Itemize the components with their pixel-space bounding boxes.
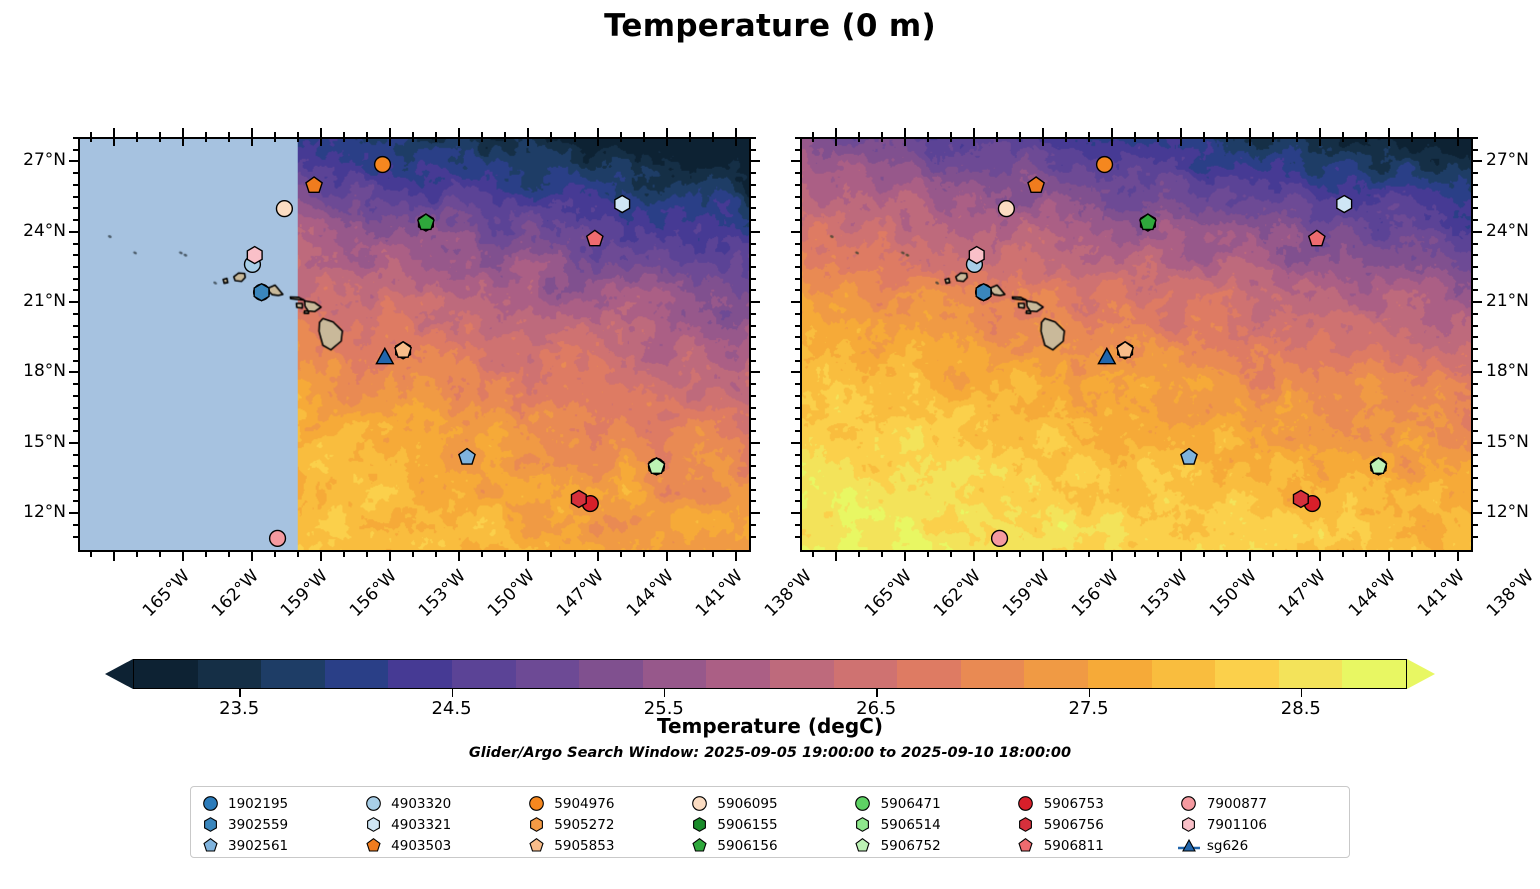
- y-axis-tick: [1473, 219, 1478, 221]
- pentagon-marker-icon: [199, 837, 221, 855]
- colorbar-tick: [452, 689, 454, 697]
- y-axis-tick: [1473, 371, 1482, 373]
- legend-entry-sg626[interactable]: sg626: [1178, 837, 1341, 855]
- colorbar-min-extend-arrow: [105, 659, 133, 689]
- hexagon-marker-icon: [199, 816, 221, 834]
- colorbar-tick: [876, 689, 878, 697]
- y-axis-tick: [1473, 196, 1478, 198]
- y-axis-tick: [1473, 500, 1478, 502]
- y-axis-tick: [751, 313, 756, 315]
- legend-entry-5906756[interactable]: 5906756: [1015, 816, 1178, 834]
- x-axis-tick-label: 162°W: [930, 566, 985, 621]
- figure-title: Temperature (0 m): [0, 8, 1540, 44]
- y-axis-tick: [751, 407, 756, 409]
- y-axis-tick: [1473, 430, 1478, 432]
- x-axis-tick: [389, 128, 391, 137]
- y-axis-tick: [1473, 360, 1478, 362]
- legend-label: 1902195: [228, 796, 288, 812]
- y-axis-tick: [1473, 512, 1482, 514]
- y-axis-tick: [751, 137, 756, 139]
- x-axis-tick-label: 147°W: [553, 566, 608, 621]
- y-axis-tick-label: 24°N: [0, 221, 66, 241]
- hexagon-marker-icon: [525, 816, 547, 834]
- y-axis-tick: [1473, 536, 1478, 538]
- x-axis-tick: [320, 128, 322, 137]
- legend-label: 4903503: [391, 838, 451, 854]
- y-axis-tick: [751, 418, 756, 420]
- platform-marker-4903503[interactable]: 4903503: [306, 177, 322, 192]
- y-axis-tick: [791, 512, 800, 514]
- marker-overlay-espc: 1902195390255939025614903320490332149035…: [802, 139, 1471, 550]
- search-window-caption: Glider/Argo Search Window: 2025-09-05 19…: [0, 745, 1540, 761]
- x-axis-tick: [113, 128, 115, 137]
- circle-marker-icon: [1178, 795, 1200, 813]
- legend-entry-5906811[interactable]: 5906811: [1015, 837, 1178, 855]
- x-axis-tick: [1157, 552, 1159, 557]
- y-axis-tick: [751, 289, 756, 291]
- y-axis-tick: [1473, 395, 1478, 397]
- y-axis-tick: [751, 278, 756, 280]
- y-axis-tick: [751, 172, 756, 174]
- platform-marker-5904976[interactable]: 5904976: [375, 157, 391, 173]
- x-axis-tick-label: 165°W: [138, 566, 193, 621]
- y-axis-tick: [751, 149, 756, 151]
- legend-label: 5906471: [881, 796, 941, 812]
- legend-entry-7901106[interactable]: 7901106: [1178, 816, 1341, 834]
- platform-marker-7900877[interactable]: 7900877: [270, 530, 286, 546]
- platform-marker-4903321[interactable]: 4903321: [1337, 196, 1352, 213]
- y-axis-tick: [69, 231, 78, 233]
- x-axis-tick: [458, 128, 460, 137]
- x-axis-tick: [228, 552, 230, 557]
- x-axis-tick: [1088, 552, 1090, 557]
- x-axis-tick: [858, 552, 860, 557]
- map-panel-rtofs[interactable]: RTOFS - 2025-09-10 18:00:00 190219539025…: [78, 137, 751, 552]
- legend-entry-5906514[interactable]: 5906514: [852, 816, 1015, 834]
- x-axis-tick: [527, 552, 529, 561]
- platform-marker-3902561[interactable]: 3902561: [1181, 449, 1197, 464]
- colorbar-tick: [1089, 689, 1091, 697]
- y-axis-tick: [1473, 524, 1478, 526]
- legend-entry-1902195[interactable]: 1902195: [199, 795, 362, 813]
- x-axis-tick: [297, 552, 299, 557]
- y-axis-tick: [751, 336, 756, 338]
- platform-marker-5905853[interactable]: 5905853: [1117, 342, 1133, 357]
- y-axis-tick: [1473, 313, 1478, 315]
- legend-label: 5905853: [554, 838, 614, 854]
- x-axis-tick: [597, 128, 599, 137]
- legend-label: 5905272: [554, 817, 614, 833]
- x-axis-tick: [136, 552, 138, 557]
- x-axis-tick: [1272, 552, 1274, 557]
- x-axis-tick: [881, 552, 883, 557]
- y-axis-tick: [791, 371, 800, 373]
- y-axis-tick: [751, 512, 760, 514]
- x-axis-tick-label: 159°W: [999, 566, 1054, 621]
- circle-marker-icon: [362, 795, 384, 813]
- legend-label: 5906811: [1044, 838, 1104, 854]
- x-axis-tick: [1434, 552, 1436, 557]
- platform-marker-3902559[interactable]: 3902559: [254, 284, 269, 301]
- y-axis-tick: [791, 442, 800, 444]
- y-axis-tick-label: 12°N: [1486, 502, 1529, 522]
- y-axis-tick: [1473, 407, 1478, 409]
- legend-grid: 1902195490332059049765906095590647159067…: [199, 793, 1341, 856]
- x-axis-tick: [620, 552, 622, 557]
- x-axis-tick: [159, 552, 161, 557]
- x-axis-tick: [366, 552, 368, 557]
- y-axis-tick: [751, 500, 756, 502]
- x-axis-tick-label: 138°W: [761, 566, 816, 621]
- platform-marker-5905853[interactable]: 5905853: [395, 342, 411, 357]
- legend-entry-3902561[interactable]: 3902561: [199, 837, 362, 855]
- x-axis-tick: [1319, 552, 1321, 561]
- x-axis-tick-label: 150°W: [1206, 566, 1261, 621]
- platform-marker-3902561[interactable]: 3902561: [459, 449, 475, 464]
- pentagon-marker-icon: [688, 837, 710, 855]
- x-axis-tick-label: 147°W: [1275, 566, 1330, 621]
- x-axis-tick: [574, 552, 576, 557]
- legend-entry-5906752[interactable]: 5906752: [852, 837, 1015, 855]
- y-axis-tick-label: 18°N: [1486, 361, 1529, 381]
- y-axis-tick: [751, 442, 760, 444]
- y-axis-tick: [1473, 207, 1478, 209]
- y-axis-tick: [751, 301, 760, 303]
- y-axis-tick: [751, 395, 756, 397]
- x-axis-tick: [1111, 128, 1113, 137]
- y-axis-tick: [1473, 231, 1482, 233]
- platform-marker-4903321[interactable]: 4903321: [615, 196, 630, 213]
- x-axis-tick-label: 141°W: [692, 566, 747, 621]
- legend-entry-5906753[interactable]: 5906753: [1015, 795, 1178, 813]
- y-axis-tick: [1473, 278, 1478, 280]
- x-axis-tick: [1249, 128, 1251, 137]
- legend-label: 4903321: [391, 817, 451, 833]
- legend-entry-4903320[interactable]: 4903320: [362, 795, 525, 813]
- legend-label: 3902561: [228, 838, 288, 854]
- y-axis-tick: [751, 184, 756, 186]
- y-axis-tick: [751, 536, 756, 538]
- colorbar-tick: [239, 689, 241, 697]
- x-axis-tick: [835, 128, 837, 137]
- y-axis-tick: [1473, 489, 1478, 491]
- x-axis-tick: [435, 552, 437, 557]
- colorbar-tick: [664, 689, 666, 697]
- x-axis-tick: [735, 552, 737, 561]
- x-axis-tick: [1042, 552, 1044, 561]
- x-axis-tick-label: 144°W: [622, 566, 677, 621]
- circle-marker-icon: [525, 795, 547, 813]
- hexagon-marker-icon: [362, 816, 384, 834]
- x-axis-tick: [412, 552, 414, 557]
- y-axis-tick: [751, 266, 756, 268]
- legend-label: 5906753: [1044, 796, 1104, 812]
- y-axis-tick: [751, 196, 756, 198]
- x-axis-tick-label: 150°W: [484, 566, 539, 621]
- colorbar[interactable]: 23.524.525.526.527.528.5: [105, 659, 1435, 689]
- y-axis-tick: [751, 489, 756, 491]
- y-axis-tick: [751, 477, 756, 479]
- legend-entry-5906095[interactable]: 5906095: [688, 795, 851, 813]
- x-axis-tick: [90, 552, 92, 557]
- y-axis-tick: [1473, 442, 1482, 444]
- pentagon-marker-icon: [362, 837, 384, 855]
- legend-label: 5906752: [881, 838, 941, 854]
- x-axis-tick-label: 144°W: [1344, 566, 1399, 621]
- platform-marker-5906756[interactable]: 5906756: [1293, 490, 1308, 507]
- y-axis-tick: [751, 254, 756, 256]
- x-axis-tick: [182, 128, 184, 137]
- y-axis-tick: [1473, 160, 1482, 162]
- x-axis-tick: [389, 552, 391, 561]
- x-axis-tick: [666, 552, 668, 561]
- x-axis-tick-label: 153°W: [415, 566, 470, 621]
- x-axis-tick: [689, 552, 691, 557]
- legend-label: 5906095: [717, 796, 777, 812]
- y-axis-tick: [751, 348, 756, 350]
- x-axis-tick: [1065, 552, 1067, 557]
- x-axis-tick-label: 141°W: [1414, 566, 1469, 621]
- y-axis-tick: [1473, 348, 1478, 350]
- colorbar-gradient: [133, 659, 1407, 689]
- x-axis-tick: [735, 128, 737, 137]
- y-axis-tick-label: 15°N: [1486, 432, 1529, 452]
- platform-marker-7901106[interactable]: 7901106: [969, 247, 984, 264]
- platform-marker-5904976[interactable]: 5904976: [1097, 157, 1113, 173]
- y-axis-tick: [751, 325, 756, 327]
- x-axis-tick: [950, 552, 952, 557]
- x-axis-tick: [251, 552, 253, 561]
- y-axis-tick: [1473, 184, 1478, 186]
- colorbar-max-extend-arrow: [1407, 659, 1435, 689]
- marker-overlay-rtofs: 1902195390255939025614903320490332149035…: [80, 139, 749, 550]
- y-axis-tick: [1473, 336, 1478, 338]
- x-axis-tick: [343, 552, 345, 557]
- circle-marker-icon: [199, 795, 221, 813]
- y-axis-tick: [1473, 301, 1482, 303]
- legend-entry-5905272[interactable]: 5905272: [525, 816, 688, 834]
- y-axis-tick: [1473, 137, 1478, 139]
- pentagon-marker-icon: [1015, 837, 1037, 855]
- x-axis-tick: [182, 552, 184, 561]
- platform-marker-4903503[interactable]: 4903503: [1028, 177, 1044, 192]
- y-axis-tick: [751, 524, 756, 526]
- x-axis-tick: [1457, 128, 1459, 137]
- x-axis-tick: [1180, 128, 1182, 137]
- x-axis-tick: [904, 552, 906, 561]
- platform-marker-5906156[interactable]: 5906156: [1140, 214, 1156, 229]
- x-axis-tick-label: 153°W: [1137, 566, 1192, 621]
- legend-label: 7901106: [1207, 817, 1267, 833]
- y-axis-tick: [751, 243, 756, 245]
- x-axis-tick-label: 165°W: [860, 566, 915, 621]
- platform-marker-5906811[interactable]: 5906811: [1309, 230, 1325, 245]
- y-axis-tick: [1473, 465, 1478, 467]
- legend-label: 5904976: [554, 796, 614, 812]
- platform-marker-5906156[interactable]: 5906156: [418, 214, 434, 229]
- x-axis-tick: [458, 552, 460, 561]
- circle-marker-icon: [1015, 795, 1037, 813]
- triangle-marker-icon: [1178, 837, 1200, 855]
- x-axis-tick: [904, 128, 906, 137]
- y-axis-tick: [69, 160, 78, 162]
- y-axis-tick: [751, 383, 756, 385]
- y-axis-tick: [1473, 266, 1478, 268]
- legend-label: 4903320: [391, 796, 451, 812]
- y-axis-tick: [751, 160, 760, 162]
- y-axis-tick: [69, 442, 78, 444]
- platform-marker-3902559[interactable]: 3902559: [976, 284, 991, 301]
- x-axis-tick: [1019, 552, 1021, 557]
- x-axis-tick: [973, 552, 975, 561]
- x-axis-tick: [1411, 552, 1413, 557]
- platform-legend[interactable]: 1902195490332059049765906095590647159067…: [190, 786, 1350, 858]
- y-axis-tick: [791, 231, 800, 233]
- colorbar-tick: [1301, 689, 1303, 697]
- y-axis-tick-label: 18°N: [0, 361, 66, 381]
- x-axis-tick: [320, 552, 322, 561]
- circle-marker-icon: [688, 795, 710, 813]
- hexagon-marker-icon: [1178, 816, 1200, 834]
- x-axis-tick-label: 162°W: [208, 566, 263, 621]
- x-axis-tick-label: 156°W: [1068, 566, 1123, 621]
- circle-marker-icon: [852, 795, 874, 813]
- x-axis-tick: [1365, 552, 1367, 557]
- y-axis-tick: [69, 301, 78, 303]
- y-axis-tick: [791, 160, 800, 162]
- x-axis-tick: [812, 552, 814, 557]
- y-axis-tick: [1473, 418, 1478, 420]
- legend-entry-5906156[interactable]: 5906156: [688, 837, 851, 855]
- legend-label: 3902559: [228, 817, 288, 833]
- legend-label: 7900877: [1207, 796, 1267, 812]
- y-axis-tick: [751, 231, 760, 233]
- y-axis-tick-label: 21°N: [0, 291, 66, 311]
- x-axis-tick: [481, 552, 483, 557]
- y-axis-tick-label: 27°N: [0, 150, 66, 170]
- x-axis-tick: [1388, 552, 1390, 561]
- x-axis-tick: [597, 552, 599, 561]
- x-axis-tick: [251, 128, 253, 137]
- x-axis-tick: [996, 552, 998, 557]
- legend-label: 5906155: [717, 817, 777, 833]
- platform-marker-5906811[interactable]: 5906811: [587, 230, 603, 245]
- x-axis-tick-label: 159°W: [277, 566, 332, 621]
- y-axis-tick: [1473, 149, 1478, 151]
- x-axis-tick: [205, 552, 207, 557]
- x-axis-tick: [1042, 128, 1044, 137]
- map-panel-espc[interactable]: ESPC - 2025-09-10 18:00:00 1902195390255…: [800, 137, 1473, 552]
- y-axis-tick: [1473, 454, 1478, 456]
- platform-marker-5906756[interactable]: 5906756: [571, 490, 586, 507]
- y-axis-tick: [751, 219, 756, 221]
- x-axis-tick: [1226, 552, 1228, 557]
- x-axis-tick: [666, 128, 668, 137]
- x-axis-tick: [113, 552, 115, 561]
- x-axis-tick: [504, 552, 506, 557]
- x-axis-tick: [1249, 552, 1251, 561]
- legend-entry-5906471[interactable]: 5906471: [852, 795, 1015, 813]
- colorbar-label: Temperature (degC): [0, 714, 1540, 738]
- x-axis-tick: [927, 552, 929, 557]
- hexagon-marker-icon: [688, 816, 710, 834]
- y-axis-tick: [1473, 254, 1478, 256]
- x-axis-tick: [1342, 552, 1344, 557]
- legend-entry-5905853[interactable]: 5905853: [525, 837, 688, 855]
- x-axis-tick: [1180, 552, 1182, 561]
- y-axis-tick: [69, 371, 78, 373]
- legend-label: 5906156: [717, 838, 777, 854]
- x-axis-tick: [527, 128, 529, 137]
- platform-marker-7901106[interactable]: 7901106: [247, 247, 262, 264]
- legend-entry-5906155[interactable]: 5906155: [688, 816, 851, 834]
- y-axis-tick-label: 27°N: [1486, 150, 1529, 170]
- x-axis-tick: [643, 552, 645, 557]
- x-axis-tick-label: 156°W: [346, 566, 401, 621]
- x-axis-tick: [712, 552, 714, 557]
- y-axis-tick: [1473, 477, 1478, 479]
- x-axis-tick: [835, 552, 837, 561]
- y-axis-tick: [751, 360, 756, 362]
- legend-entry-7900877[interactable]: 7900877: [1178, 795, 1341, 813]
- y-axis-tick: [751, 454, 756, 456]
- x-axis-tick: [550, 552, 552, 557]
- hexagon-marker-icon: [1015, 816, 1037, 834]
- pentagon-marker-icon: [852, 837, 874, 855]
- x-axis-tick: [1203, 552, 1205, 557]
- pentagon-marker-icon: [525, 837, 547, 855]
- platform-marker-5906095[interactable]: 5906095: [276, 201, 292, 217]
- y-axis-tick: [751, 430, 756, 432]
- legend-entry-4903321[interactable]: 4903321: [362, 816, 525, 834]
- platform-marker-7900877[interactable]: 7900877: [992, 530, 1008, 546]
- y-axis-tick: [1473, 243, 1478, 245]
- x-axis-tick: [274, 552, 276, 557]
- legend-label: 5906514: [881, 817, 941, 833]
- x-axis-tick: [1319, 128, 1321, 137]
- platform-marker-5906095[interactable]: 5906095: [998, 201, 1014, 217]
- y-axis-tick: [1473, 325, 1478, 327]
- x-axis-tick: [1457, 552, 1459, 561]
- y-axis-tick: [69, 512, 78, 514]
- x-axis-tick: [1388, 128, 1390, 137]
- y-axis-tick: [751, 371, 760, 373]
- y-axis-tick-label: 15°N: [0, 432, 66, 452]
- y-axis-tick-label: 24°N: [1486, 221, 1529, 241]
- platform-marker-sg626[interactable]: sg626: [1098, 348, 1115, 363]
- y-axis-tick: [751, 207, 756, 209]
- legend-label: sg626: [1207, 838, 1248, 854]
- legend-entry-4903503[interactable]: 4903503: [362, 837, 525, 855]
- x-axis-tick: [1111, 552, 1113, 561]
- y-axis-tick: [791, 301, 800, 303]
- x-axis-tick: [973, 128, 975, 137]
- y-axis-tick: [1473, 172, 1478, 174]
- x-axis-tick: [1296, 552, 1298, 557]
- y-axis-tick-label: 12°N: [0, 502, 66, 522]
- y-axis-tick-label: 21°N: [1486, 291, 1529, 311]
- legend-entry-5904976[interactable]: 5904976: [525, 795, 688, 813]
- y-axis-tick: [751, 465, 756, 467]
- x-axis-tick-label: 138°W: [1483, 566, 1538, 621]
- legend-entry-3902559[interactable]: 3902559: [199, 816, 362, 834]
- legend-label: 5906756: [1044, 817, 1104, 833]
- y-axis-tick: [1473, 383, 1478, 385]
- x-axis-tick: [1134, 552, 1136, 557]
- y-axis-tick: [1473, 289, 1478, 291]
- hexagon-marker-icon: [852, 816, 874, 834]
- platform-marker-sg626[interactable]: sg626: [376, 348, 393, 363]
